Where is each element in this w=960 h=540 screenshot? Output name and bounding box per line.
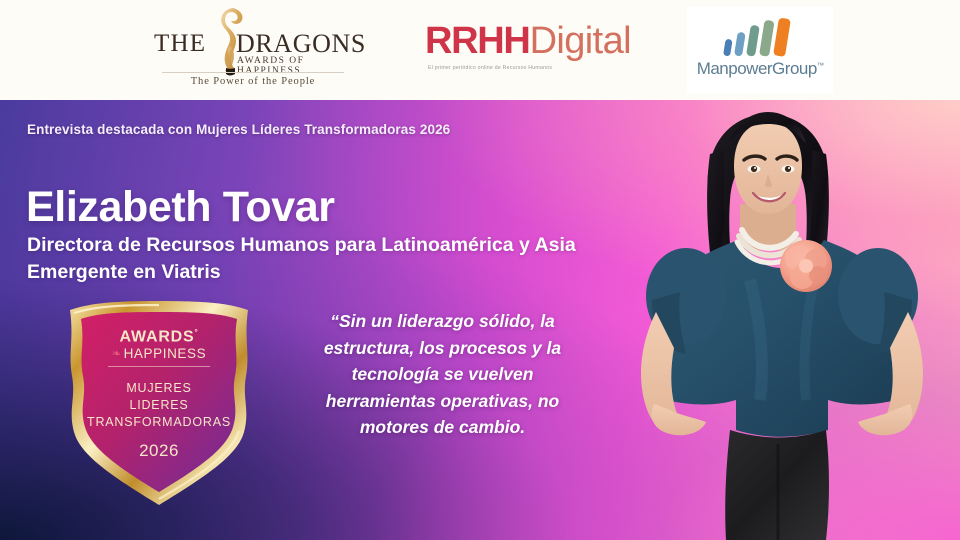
dragons-logo-tagline: The Power of the People	[148, 76, 358, 87]
shield-graphic	[60, 298, 258, 508]
rrhh-tagline: El primer periódico online de Recursos H…	[428, 65, 552, 71]
kicker-text: Entrevista destacada con Mujeres Líderes…	[27, 122, 450, 137]
role-text: Directora de Recursos Humanos para Latin…	[27, 232, 617, 286]
manpowergroup-bars-icon	[721, 18, 801, 56]
logo-rrhh-digital: RRHHDigital El primer periódico online d…	[425, 22, 625, 80]
logo-the-dragons-awards-of-happiness: THE DRAGONS AWARDS OF HAPPINESS The Powe…	[148, 4, 358, 96]
rrhh-bold-text: RRHH	[425, 20, 530, 62]
page-title: Elizabeth Tovar	[26, 183, 335, 232]
pull-quote: “Sin un liderazgo sólido, la estructura,…	[300, 308, 585, 441]
dragons-logo-the: THE	[154, 30, 206, 58]
manpowergroup-wordmark: ManpowerGroup™	[687, 59, 833, 79]
dragons-logo-subtitle: AWARDS OF HAPPINESS	[237, 56, 358, 76]
infographic-canvas: THE DRAGONS AWARDS OF HAPPINESS The Powe…	[0, 0, 960, 540]
logo-manpowergroup: ManpowerGroup™	[687, 7, 833, 93]
rrhh-light-text: Digital	[530, 20, 631, 62]
dragons-logo-wordmark: DRAGONS	[236, 29, 366, 59]
manpowergroup-trademark: ™	[817, 62, 824, 69]
manpowergroup-wordmark-text: ManpowerGroup	[697, 59, 817, 78]
main-gradient-panel: Entrevista destacada con Mujeres Líderes…	[0, 100, 960, 540]
rrhh-wordmark: RRHHDigital	[425, 22, 631, 60]
portrait-elizabeth-tovar	[600, 100, 960, 540]
sponsor-logo-bar: THE DRAGONS AWARDS OF HAPPINESS The Powe…	[0, 0, 960, 100]
dragons-logo-divider	[162, 72, 344, 73]
award-badge: AWARDS° ❧HAPPINESS MUJERES LIDERES TRANS…	[60, 298, 258, 508]
